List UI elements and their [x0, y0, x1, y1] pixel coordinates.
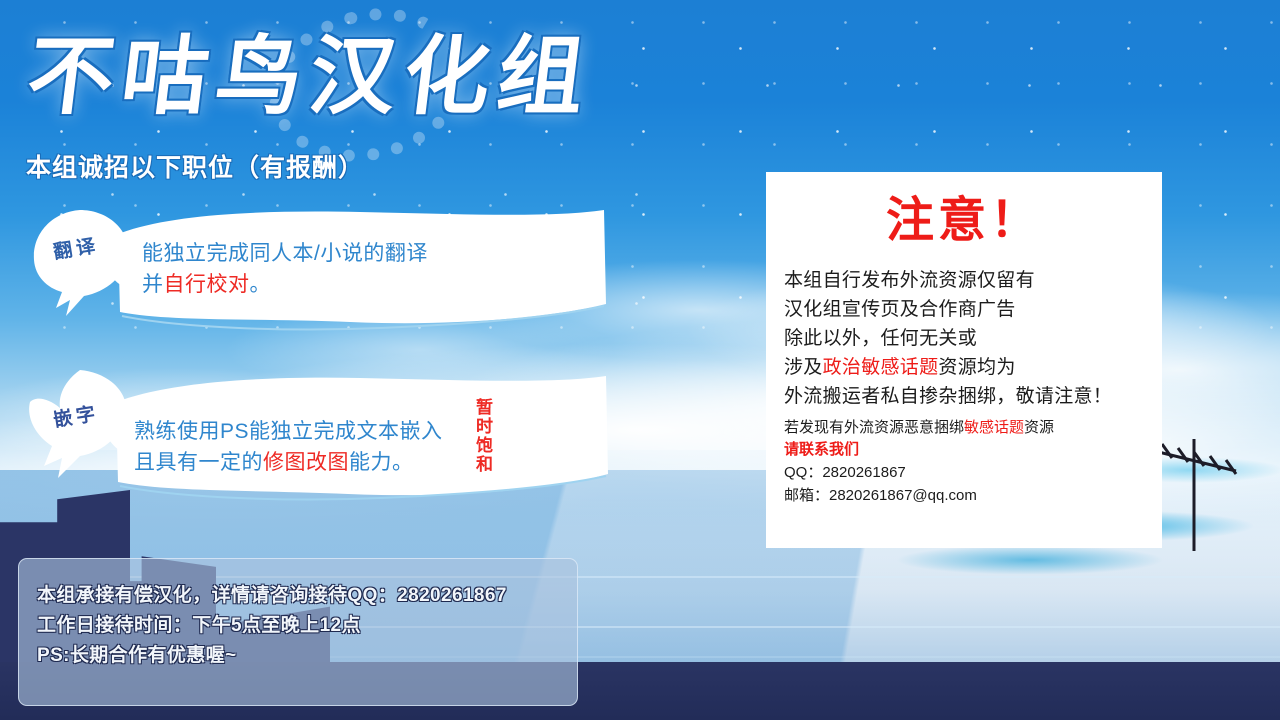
notice-subnote-highlight: 敏感话题	[964, 419, 1024, 436]
role-card-translate: 翻译 能独立完成同人本/小说的翻译 并自行校对。	[12, 196, 622, 336]
notice-line: 除此以外，任何无关或	[784, 324, 1144, 353]
service-line-2: 工作日接待时间：下午5点至晚上12点	[37, 611, 577, 641]
role-req-line1: 能独立完成同人本/小说的翻译	[142, 242, 428, 265]
notice-body: 本组自行发布外流资源仅留有 汉化组宣传页及合作商广告 除此以外，任何无关或 涉及…	[784, 266, 1144, 411]
notice-title: 注意！	[784, 188, 1144, 254]
status-badge-saturated: 暂时饱和	[470, 398, 492, 474]
role-card-typeset: 嵌字 熟练使用PS能独立完成文本嵌入 且具有一定的修图改图能力。	[12, 358, 622, 506]
poster-root: 不咕鸟汉化组 本组诚招以下职位（有报酬） 翻译 能独立完成同人本/小说的翻译 并…	[0, 0, 1280, 720]
notice-subnote: 若发现有外流资源恶意捆绑敏感话题资源	[784, 417, 1144, 439]
notice-line-suffix: 资源均为	[938, 357, 1015, 378]
role-req-suffix: 能力。	[349, 451, 414, 474]
service-info-panel: 本组承接有偿汉化，详情请咨询接待QQ：2820261867 工作日接待时间：下午…	[18, 558, 578, 706]
role-req-line1: 熟练使用PS能独立完成文本嵌入	[134, 420, 443, 443]
recruit-subtitle: 本组诚招以下职位（有报酬）	[26, 148, 364, 184]
contact-email: 邮箱：2820261867@qq.com	[784, 484, 1144, 507]
service-line-1: 本组承接有偿汉化，详情请咨询接待QQ：2820261867	[37, 581, 577, 611]
contact-qq: QQ：2820261867	[784, 461, 1144, 484]
notice-line: 本组自行发布外流资源仅留有	[784, 266, 1144, 295]
notice-line: 外流搬运者私自掺杂捆绑，敬请注意！	[784, 382, 1144, 411]
role-requirements: 熟练使用PS能独立完成文本嵌入 且具有一定的修图改图能力。	[134, 416, 443, 478]
notice-card: 注意！ 本组自行发布外流资源仅留有 汉化组宣传页及合作商广告 除此以外，任何无关…	[766, 172, 1162, 548]
service-line-3: PS:长期合作有优惠喔~	[37, 641, 577, 671]
role-requirements: 能独立完成同人本/小说的翻译 并自行校对。	[142, 238, 428, 300]
masthead: 不咕鸟汉化组	[28, 18, 748, 138]
notice-subnote-prefix: 若发现有外流资源恶意捆绑	[784, 419, 964, 436]
notice-line-prefix: 涉及	[784, 357, 823, 378]
role-req-prefix: 并	[142, 273, 164, 296]
notice-line: 汉化组宣传页及合作商广告	[784, 295, 1144, 324]
role-req-highlight: 修图改图	[263, 451, 349, 474]
role-req-highlight: 自行校对	[164, 273, 250, 296]
role-req-suffix: 。	[250, 273, 272, 296]
notice-line-highlight: 政治敏感话题	[823, 357, 939, 378]
role-req-prefix: 且具有一定的	[134, 451, 263, 474]
contact-cta: 请联系我们	[784, 439, 1144, 461]
page-title: 不咕鸟汉化组	[21, 18, 755, 136]
notice-subnote-suffix: 资源	[1024, 419, 1054, 436]
notice-line: 涉及政治敏感话题资源均为	[784, 353, 1144, 382]
